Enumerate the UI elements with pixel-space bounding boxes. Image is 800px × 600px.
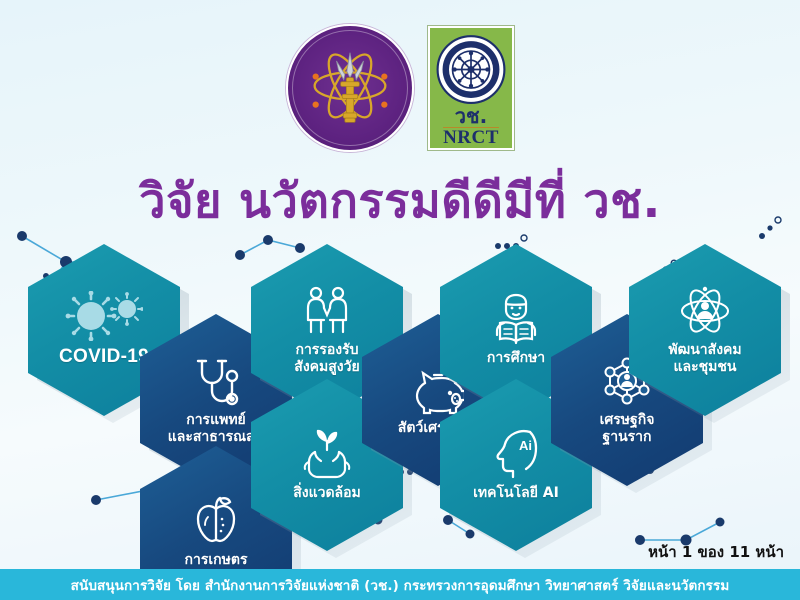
hex-label-line1: เศรษฐกิจ bbox=[600, 412, 655, 428]
nrct-logo: วช. NRCT bbox=[428, 26, 514, 150]
hands-plant-icon bbox=[301, 428, 353, 480]
hex-label: พัฒนาสังคมและชุมชน bbox=[660, 342, 749, 375]
nrct-abbr-english: NRCT bbox=[443, 127, 499, 148]
apple-icon bbox=[190, 495, 242, 547]
virus-icon bbox=[65, 291, 143, 341]
hex-label-line2: สังคมสูงวัย bbox=[294, 359, 359, 375]
hex-label-line2: และสาธารณสุข bbox=[168, 429, 265, 445]
infographic-canvas: วช. NRCT วิจัย นวัตกรรมดีดีมีที่ วช. bbox=[0, 0, 800, 600]
svg-text:Ai: Ai bbox=[519, 438, 532, 453]
hex-label: การรองรับสังคมสูงวัย bbox=[286, 342, 367, 375]
page-indicator: หน้า 1 ของ 11 หน้า bbox=[648, 540, 784, 564]
hex-label: เทคโนโลยี AI bbox=[465, 485, 567, 502]
ai-head-icon: Ai bbox=[490, 428, 542, 480]
elderly-couple-icon bbox=[301, 285, 353, 337]
hex-label: การเกษตร bbox=[177, 552, 256, 569]
hexagon-grid: COVID-19 การแพทย์และสาธารณสุข bbox=[0, 236, 800, 546]
hex-label-line1: พัฒนาสังคม bbox=[668, 342, 741, 358]
nrct-seal-icon bbox=[435, 34, 507, 105]
stethoscope-icon bbox=[190, 355, 242, 407]
atom-person-icon bbox=[679, 285, 731, 337]
page-title: วิจัย นวัตกรรมดีดีมีที่ วช. bbox=[0, 163, 800, 238]
hex-label: เศรษฐกิจฐานราก bbox=[592, 412, 663, 445]
ministry-higher-education-science-research-innovation-logo bbox=[286, 24, 414, 152]
hex-label-line1: การรองรับ bbox=[295, 342, 358, 358]
nrct-abbr-thai: วช. bbox=[455, 106, 487, 126]
hex-label: สิ่งแวดล้อม bbox=[285, 485, 369, 502]
logo-row: วช. NRCT bbox=[0, 22, 800, 154]
hex-label-line2: ฐานราก bbox=[602, 429, 651, 445]
hex-label-line1: การแพทย์ bbox=[186, 412, 246, 428]
logo-ring-border bbox=[292, 30, 408, 146]
student-book-icon bbox=[490, 293, 542, 345]
footer-bar: สนับสนุนการวิจัย โดย สำนักงานการวิจัยแห่… bbox=[0, 569, 800, 600]
hex-label-line2: และชุมชน bbox=[674, 359, 737, 375]
hex-label: การศึกษา bbox=[479, 350, 553, 367]
footer-text: สนับสนุนการวิจัย โดย สำนักงานการวิจัยแห่… bbox=[71, 574, 730, 596]
